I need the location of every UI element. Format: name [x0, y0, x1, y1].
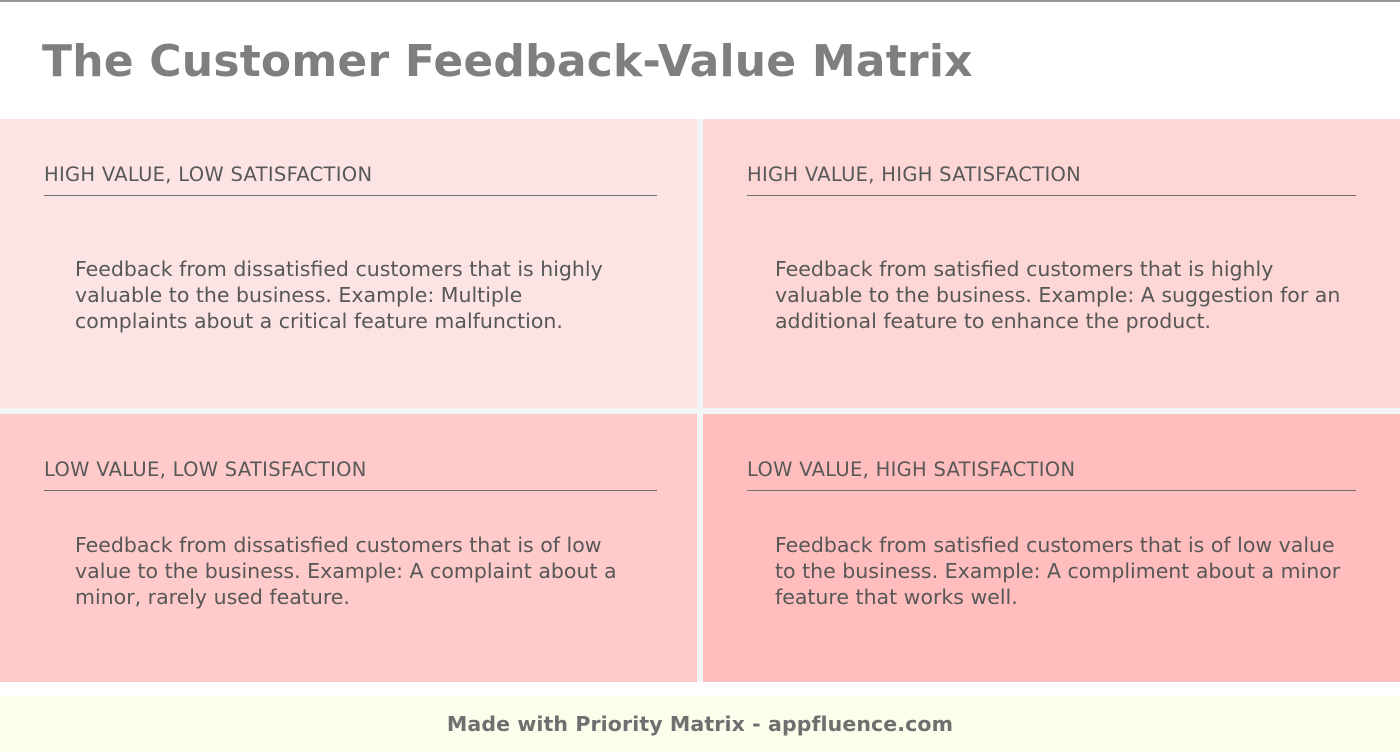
quadrant-description: Feedback from dissatisfied customers tha…: [75, 256, 635, 334]
quadrant-title: LOW VALUE, LOW SATISFACTION: [44, 458, 657, 481]
footer-attribution[interactable]: Made with Priority Matrix - appfluence.c…: [447, 712, 953, 736]
quadrant-description: Feedback from dissatisfied customers tha…: [75, 532, 635, 610]
quadrant-low-value-low-satisfaction[interactable]: LOW VALUE, LOW SATISFACTION Feedback fro…: [0, 414, 697, 682]
quadrant-divider: [747, 195, 1356, 196]
page-footer: Made with Priority Matrix - appfluence.c…: [0, 696, 1400, 752]
quadrant-description: Feedback from satisfied customers that i…: [775, 256, 1341, 334]
matrix-page: The Customer Feedback-Value Matrix HIGH …: [0, 0, 1400, 750]
quadrant-title: HIGH VALUE, LOW SATISFACTION: [44, 163, 657, 186]
quadrant-header: LOW VALUE, HIGH SATISFACTION: [747, 458, 1356, 491]
quadrant-high-value-high-satisfaction[interactable]: HIGH VALUE, HIGH SATISFACTION Feedback f…: [703, 119, 1400, 408]
quadrant-header: HIGH VALUE, HIGH SATISFACTION: [747, 163, 1356, 196]
page-header: The Customer Feedback-Value Matrix: [0, 4, 1400, 119]
quadrant-high-value-low-satisfaction[interactable]: HIGH VALUE, LOW SATISFACTION Feedback fr…: [0, 119, 697, 408]
quadrant-header: LOW VALUE, LOW SATISFACTION: [44, 458, 657, 491]
footer-spacer: [0, 682, 1400, 696]
quadrant-title: HIGH VALUE, HIGH SATISFACTION: [747, 163, 1356, 186]
quadrant-title: LOW VALUE, HIGH SATISFACTION: [747, 458, 1356, 481]
quadrant-divider: [747, 490, 1356, 491]
quadrant-low-value-high-satisfaction[interactable]: LOW VALUE, HIGH SATISFACTION Feedback fr…: [703, 414, 1400, 682]
feedback-value-matrix: HIGH VALUE, LOW SATISFACTION Feedback fr…: [0, 119, 1400, 682]
quadrant-divider: [44, 490, 657, 491]
quadrant-description: Feedback from satisfied customers that i…: [775, 532, 1341, 610]
page-title: The Customer Feedback-Value Matrix: [42, 40, 973, 84]
quadrant-divider: [44, 195, 657, 196]
quadrant-header: HIGH VALUE, LOW SATISFACTION: [44, 163, 657, 196]
